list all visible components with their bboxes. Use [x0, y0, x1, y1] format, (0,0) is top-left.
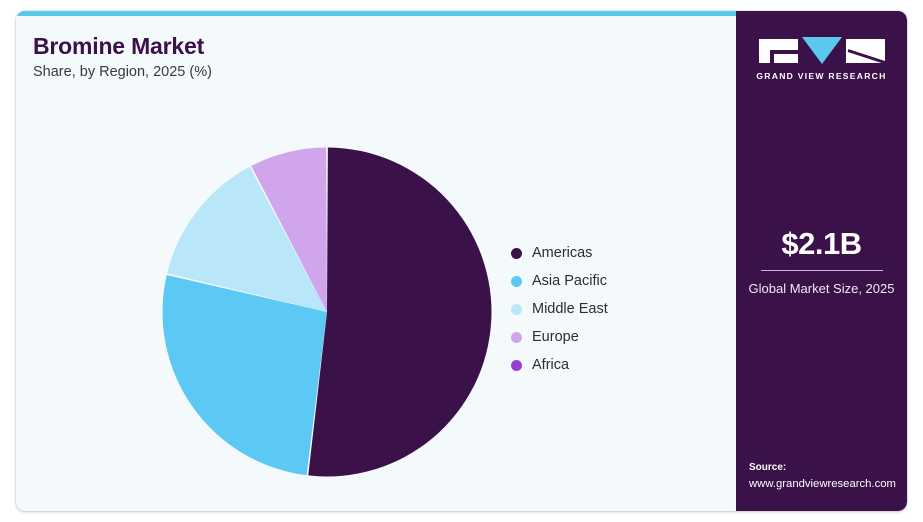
source-url[interactable]: www.grandviewresearch.com [749, 476, 907, 492]
legend-item-africa[interactable]: Africa [511, 351, 608, 379]
legend-item-americas[interactable]: Americas [511, 239, 608, 267]
stat-caption: Global Market Size, 2025 [736, 280, 907, 298]
legend-label-europe: Europe [532, 329, 579, 345]
legend-label-africa: Africa [532, 357, 569, 373]
legend-label-asia-pacific: Asia Pacific [532, 273, 607, 289]
key-stat: $2.1B Global Market Size, 2025 [736, 227, 907, 298]
pie-slice-group [163, 148, 492, 477]
legend-swatch-asia-pacific [511, 276, 522, 287]
stat-value: $2.1B [736, 227, 907, 261]
chart-legend: Americas Asia Pacific Middle East Europe… [511, 239, 608, 379]
legend-swatch-africa [511, 360, 522, 371]
stat-divider [761, 270, 883, 271]
source-block: Source: www.grandviewresearch.com [749, 461, 907, 492]
legend-item-asia-pacific[interactable]: Asia Pacific [511, 267, 608, 295]
pie-chart-area [16, 11, 736, 511]
brand-logo: GRAND VIEW RESEARCH [736, 37, 907, 81]
legend-label-americas: Americas [532, 245, 592, 261]
pie-slice-americas[interactable] [308, 148, 491, 477]
logo-v-triangle-icon [802, 37, 842, 64]
infographic-card: Bromine Market Share, by Region, 2025 (%… [16, 11, 907, 511]
logo-g-icon [759, 39, 798, 63]
logo-r-icon [846, 39, 885, 63]
source-label: Source: [749, 461, 907, 476]
legend-swatch-americas [511, 248, 522, 259]
legend-swatch-middle-east [511, 304, 522, 315]
legend-label-middle-east: Middle East [532, 301, 608, 317]
logo-marks [736, 37, 907, 64]
legend-item-middle-east[interactable]: Middle East [511, 295, 608, 323]
pie-chart [146, 131, 508, 493]
side-panel: GRAND VIEW RESEARCH $2.1B Global Market … [736, 11, 907, 511]
legend-item-europe[interactable]: Europe [511, 323, 608, 351]
legend-swatch-europe [511, 332, 522, 343]
brand-name: GRAND VIEW RESEARCH [736, 71, 907, 81]
